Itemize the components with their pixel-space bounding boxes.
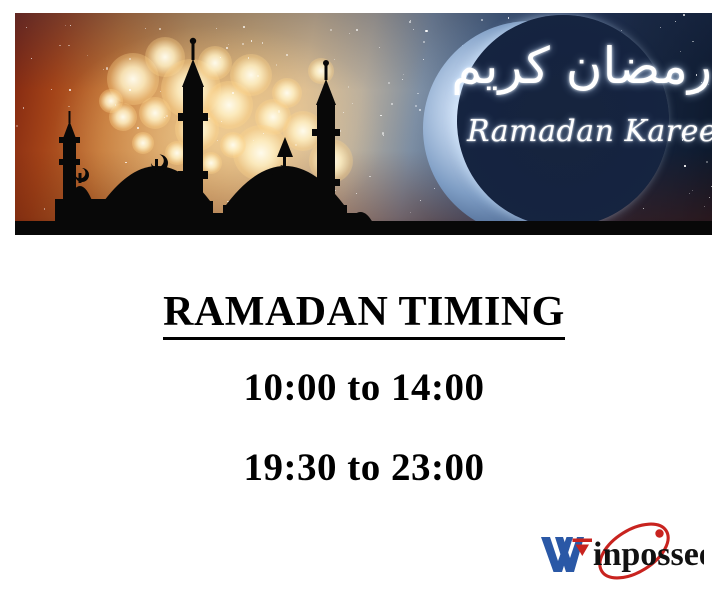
timing-line-evening: 19:30 to 23:00 [0,445,728,490]
inpossee-logo-graphic: inpossee [538,520,704,582]
inpossee-wordmark-text: inpossee [593,536,704,573]
page-title: RAMADAN TIMING [0,288,728,336]
arabic-calligraphy-text: رمضان كريم [467,23,712,109]
w-chevron-mark-icon [541,537,592,572]
page-title-text: RAMADAN TIMING [163,289,565,340]
timing-line-morning: 10:00 to 14:00 [0,365,728,410]
inpossee-logo: inpossee [538,520,704,582]
ramadan-kareem-script-text: Ramadan Kareem [467,109,712,155]
ramadan-banner: رمضان كريم Ramadan Kareem [15,13,712,235]
